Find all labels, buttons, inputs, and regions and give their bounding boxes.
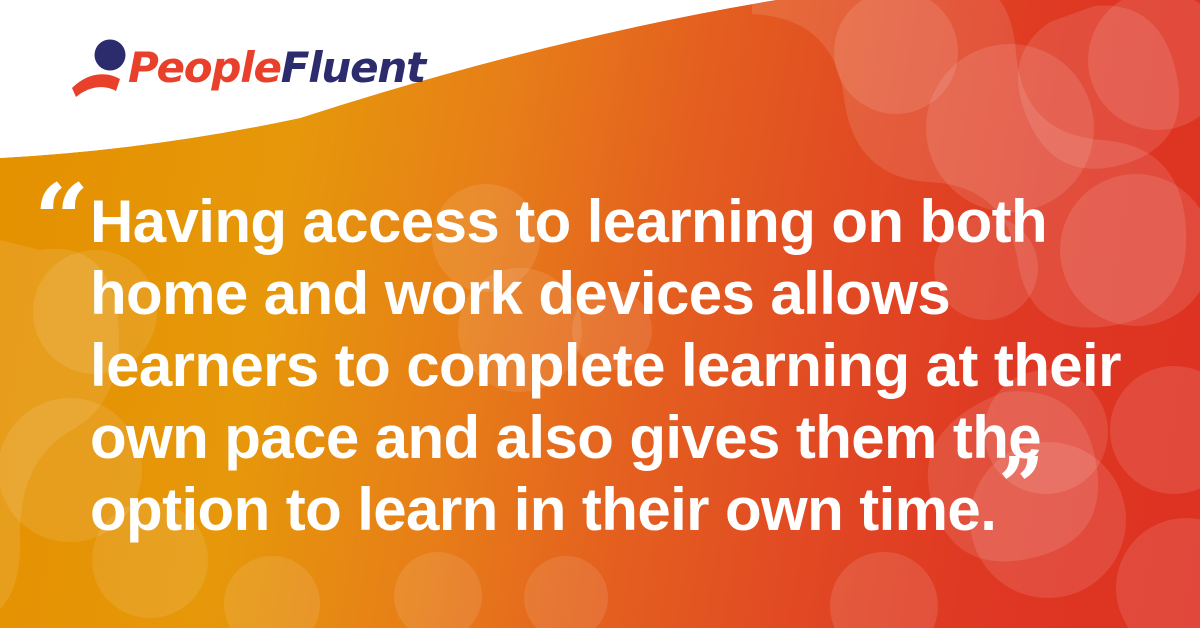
open-quotation-mark: “ bbox=[34, 172, 89, 268]
quote-last-line-wrap: option to learn in their own time.” bbox=[90, 474, 1042, 546]
brand-logo[interactable]: PeopleFluent bbox=[70, 36, 425, 100]
brand-word-people: People bbox=[128, 43, 281, 92]
person-swoosh-icon bbox=[70, 38, 132, 98]
quote-card: PeopleFluent “ Having access to learning… bbox=[0, 0, 1200, 628]
quote-line: Having access to learning on both bbox=[90, 186, 1174, 258]
quote-line: home and work devices allows bbox=[90, 258, 1174, 330]
quote-line: option to learn in their own time. bbox=[90, 476, 996, 543]
header-white-curve bbox=[0, 0, 1200, 200]
quote-block: “ Having access to learning on both home… bbox=[34, 186, 1174, 546]
brand-word-fluent: Fluent bbox=[281, 43, 425, 92]
quote-line: learners to complete learning at their bbox=[90, 330, 1174, 402]
quote-text: Having access to learning on both home a… bbox=[90, 186, 1174, 546]
brand-wordmark: PeopleFluent bbox=[128, 47, 425, 89]
close-quotation-mark: ” bbox=[998, 439, 1043, 533]
